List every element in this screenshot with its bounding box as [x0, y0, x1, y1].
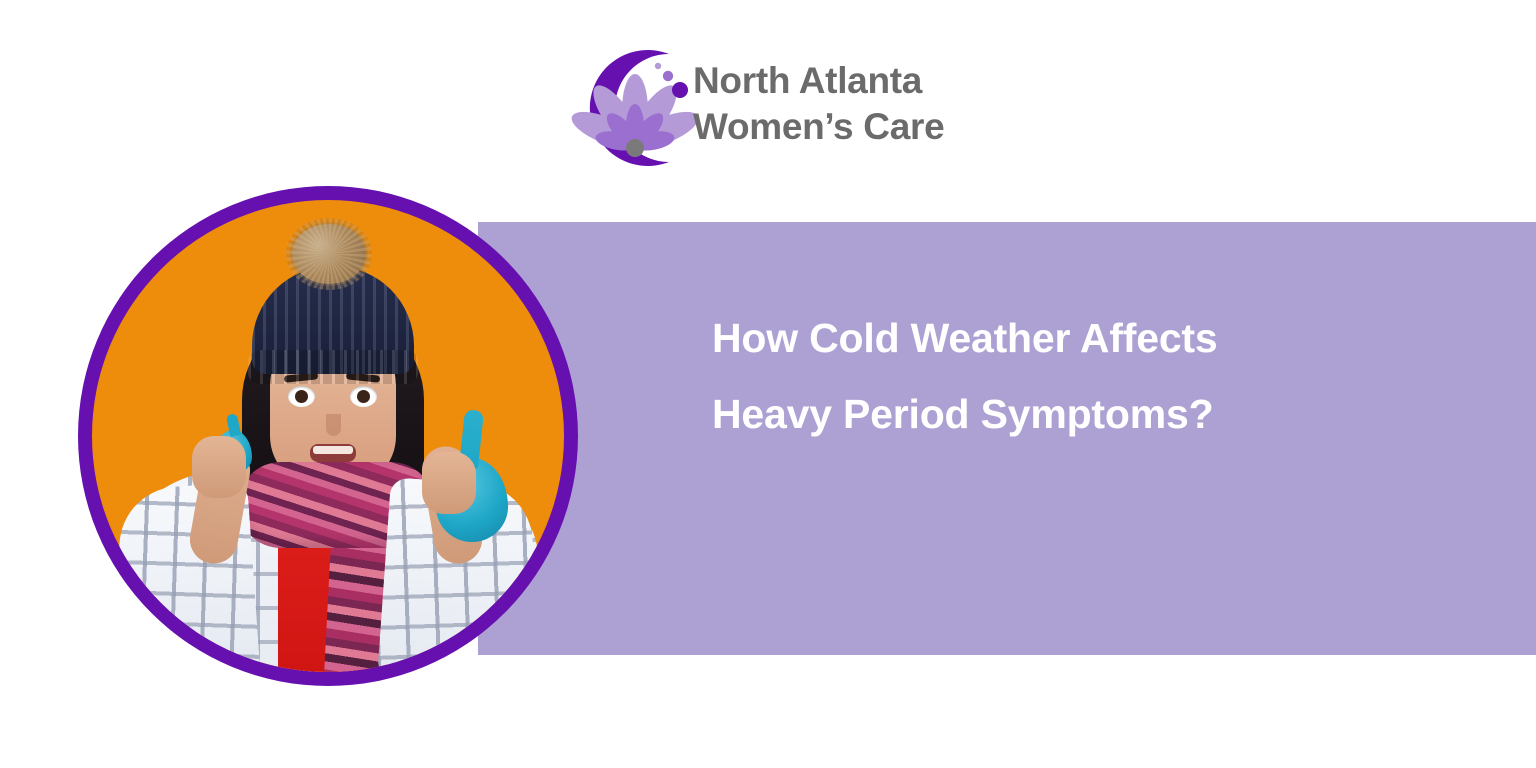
nose — [326, 414, 341, 436]
poster-canvas: North Atlanta Women’s Care How Cold Weat… — [0, 0, 1536, 768]
page-title: How Cold Weather Affects Heavy Period Sy… — [712, 300, 1472, 452]
fur-pompom — [292, 224, 366, 284]
beanie-brim — [248, 350, 418, 384]
portrait-ring — [78, 186, 578, 686]
large-dot-icon — [672, 82, 688, 98]
small-dot-icon — [655, 63, 661, 69]
mouth — [310, 444, 356, 462]
left-eye — [288, 386, 315, 407]
right-eye — [350, 386, 377, 407]
portrait-photo — [92, 200, 564, 672]
left-pupil — [295, 390, 308, 403]
teeth — [313, 446, 353, 454]
medium-dot-icon — [663, 71, 673, 81]
brand-name-line-2: Women’s Care — [693, 104, 963, 150]
brand-name-line-1: North Atlanta — [693, 58, 963, 104]
woman-illustration — [92, 200, 564, 672]
brand-logo[interactable]: North Atlanta Women’s Care — [565, 38, 965, 183]
lotus-crescent-logo-icon — [565, 38, 705, 178]
brand-wordmark: North Atlanta Women’s Care — [693, 58, 963, 150]
headline-line-2: Heavy Period Symptoms? — [712, 376, 1472, 452]
headline-line-1: How Cold Weather Affects — [712, 300, 1472, 376]
right-pupil — [357, 390, 370, 403]
left-hand — [192, 436, 246, 498]
right-hand — [422, 452, 476, 514]
